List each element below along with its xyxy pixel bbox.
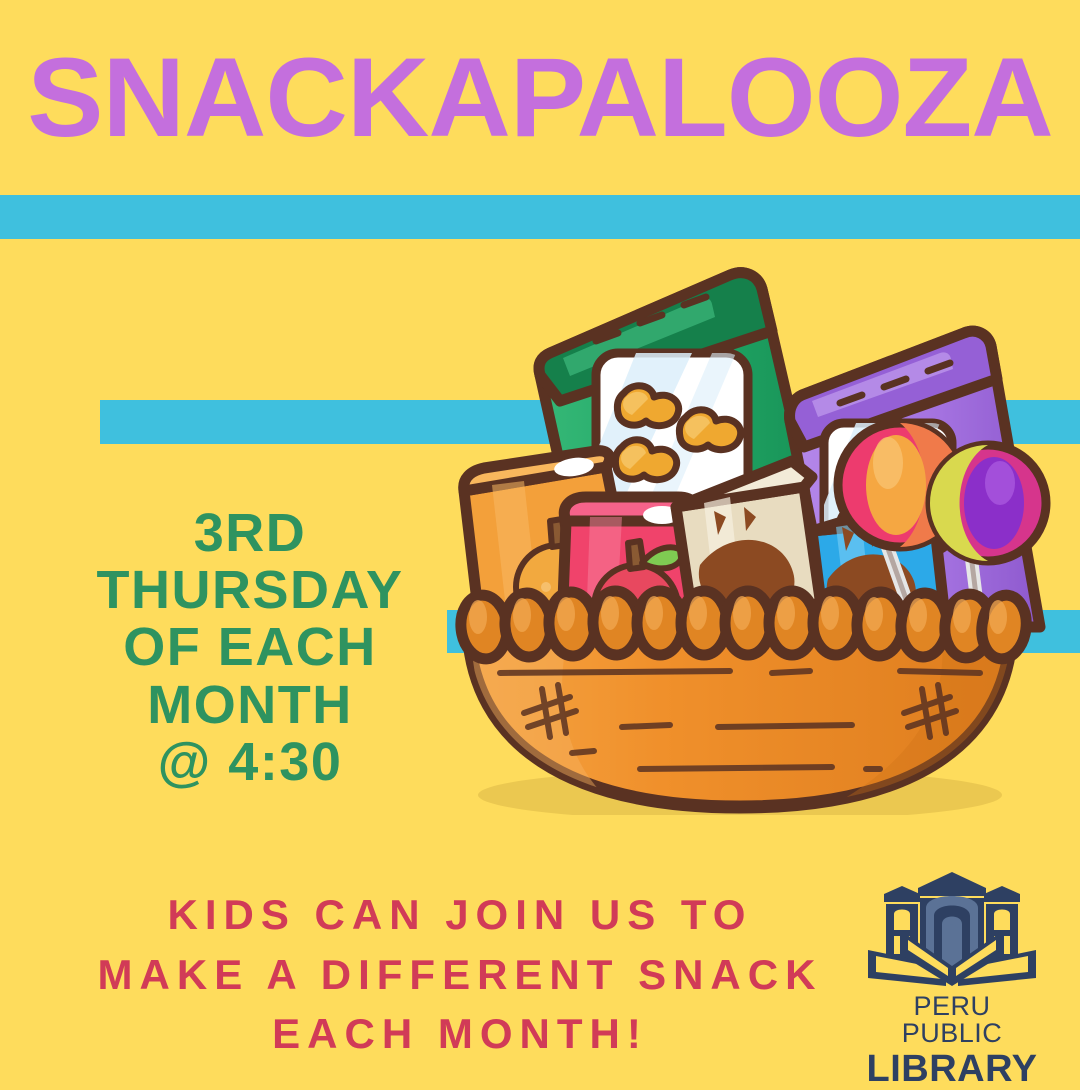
poster-title: SNACKAPALOOZA <box>0 42 1080 154</box>
schedule-line-5: @ 4:30 <box>60 734 440 791</box>
wicker-basket-shape <box>458 590 1030 807</box>
message-line-1: KIDS CAN JOIN US TO <box>60 885 860 945</box>
message-line-2: MAKE A DIFFERENT SNACK <box>60 945 860 1005</box>
snack-basket-illustration <box>400 235 1080 815</box>
accent-bar-top <box>0 195 1080 239</box>
event-description: KIDS CAN JOIN US TO MAKE A DIFFERENT SNA… <box>60 885 860 1064</box>
message-line-3: EACH MONTH! <box>60 1004 860 1064</box>
library-logo: PERU PUBLIC LIBRARY <box>862 868 1042 1046</box>
logo-line-2: LIBRARY <box>862 1050 1042 1088</box>
poster-canvas: SNACKAPALOOZA <box>0 0 1080 1080</box>
schedule-line-4: MONTH <box>60 677 440 734</box>
schedule-line-1: 3RD <box>60 505 440 562</box>
logo-line-1: PERU PUBLIC <box>862 993 1042 1047</box>
schedule-line-2: THURSDAY <box>60 562 440 619</box>
library-emblem-icon <box>862 868 1042 988</box>
schedule-line-3: OF EACH <box>60 619 440 676</box>
event-schedule: 3RD THURSDAY OF EACH MONTH @ 4:30 <box>60 505 440 791</box>
